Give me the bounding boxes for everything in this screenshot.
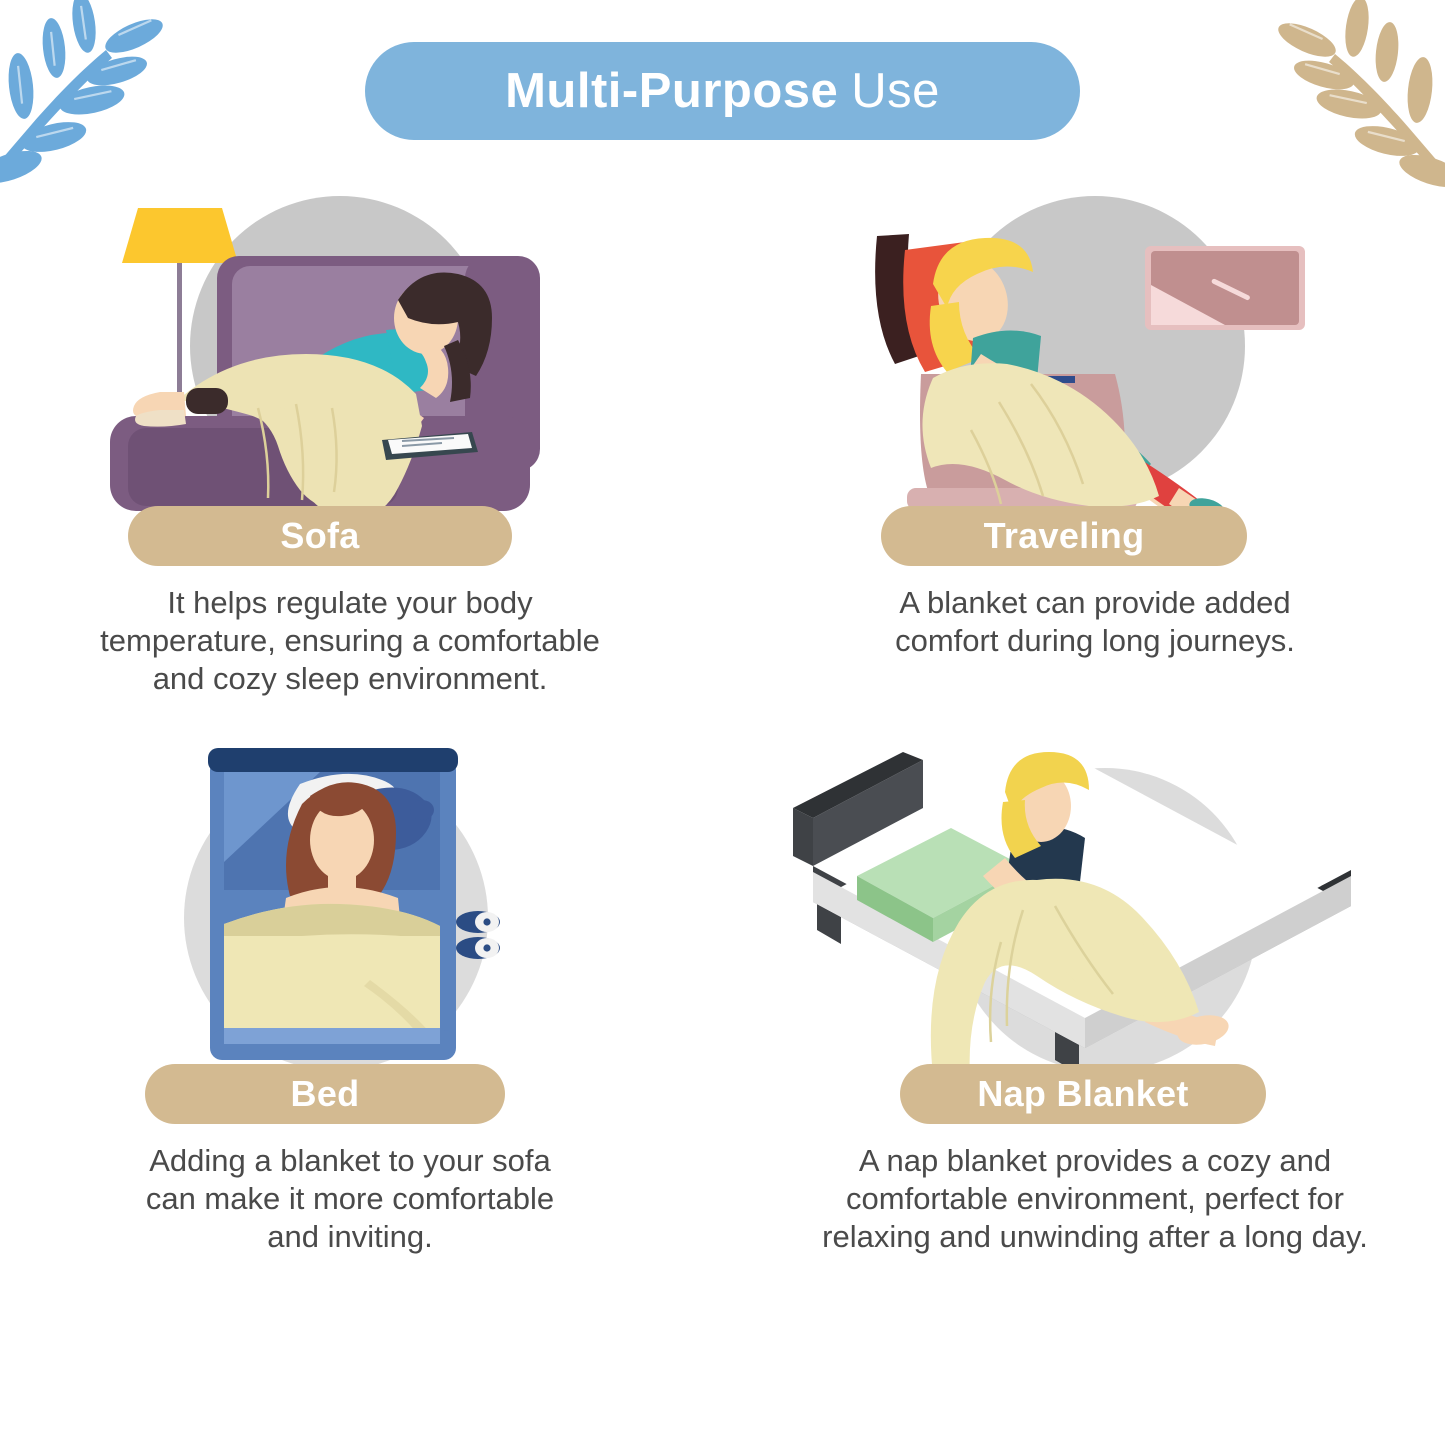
feature-card-nap-blanket: Nap Blanket A nap blanket provides a coz…: [755, 730, 1435, 1256]
nap-blanket-illustration: [755, 730, 1435, 1078]
card-label-traveling: Traveling: [881, 506, 1247, 566]
card-label-text: Sofa: [280, 515, 359, 557]
card-description-bed: Adding a blanket to your sofa can make i…: [10, 1142, 690, 1256]
card-label-text: Traveling: [984, 515, 1145, 557]
page-title-light: Use: [851, 63, 940, 119]
card-label-nap-blanket: Nap Blanket: [900, 1064, 1266, 1124]
card-description-nap-blanket: A nap blanket provides a cozy and comfor…: [755, 1142, 1435, 1256]
bed-illustration: [10, 730, 690, 1078]
card-label-text: Nap Blanket: [977, 1073, 1188, 1115]
sofa-illustration: [10, 188, 690, 518]
feature-card-traveling: Traveling A blanket can provide added co…: [755, 188, 1435, 660]
traveling-illustration: [755, 188, 1435, 518]
leaf-branch-top-left-icon: [0, 0, 218, 220]
infographic-page: Multi-Purpose Use: [0, 0, 1445, 1445]
card-label-bed: Bed: [145, 1064, 505, 1124]
feature-card-bed: Bed Adding a blanket to your sofa can ma…: [10, 730, 690, 1256]
page-title-pill: Multi-Purpose Use: [365, 42, 1080, 140]
card-label-text: Bed: [291, 1073, 360, 1115]
feature-card-sofa: Sofa It helps regulate your body tempera…: [10, 188, 690, 698]
card-description-sofa: It helps regulate your body temperature,…: [10, 584, 690, 698]
card-label-sofa: Sofa: [128, 506, 512, 566]
page-title-bold: Multi-Purpose: [505, 63, 838, 119]
card-description-traveling: A blanket can provide added comfort duri…: [755, 584, 1435, 660]
